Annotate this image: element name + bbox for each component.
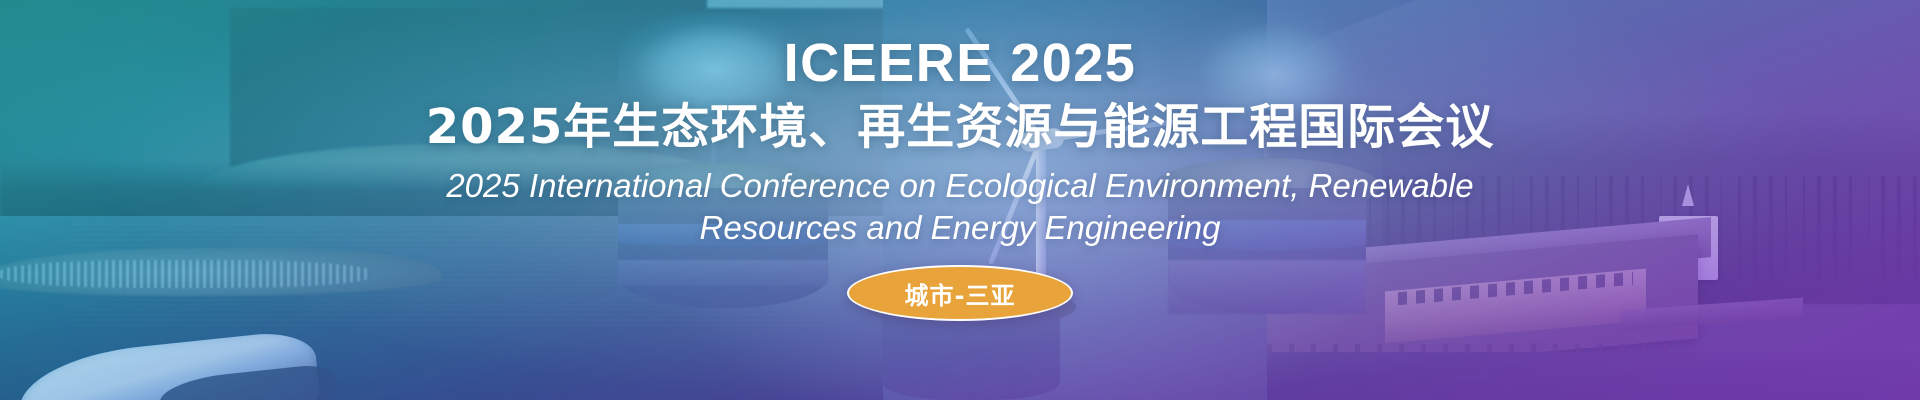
conference-title-english: 2025 International Conference on Ecologi… (446, 165, 1473, 249)
banner-content: ICEERE 2025 2025年生态环境、再生资源与能源工程国际会议 2025… (0, 0, 1920, 400)
conference-acronym: ICEERE 2025 (784, 36, 1137, 90)
conference-title-english-line2: Resources and Energy Engineering (446, 207, 1473, 249)
conference-banner: ICEERE 2025 2025年生态环境、再生资源与能源工程国际会议 2025… (0, 0, 1920, 400)
city-badge: 城市-三亚 (847, 265, 1073, 321)
conference-title-chinese: 2025年生态环境、再生资源与能源工程国际会议 (426, 102, 1495, 153)
conference-title-english-line1: 2025 International Conference on Ecologi… (446, 165, 1473, 207)
city-badge-label: 城市-三亚 (905, 276, 1016, 311)
